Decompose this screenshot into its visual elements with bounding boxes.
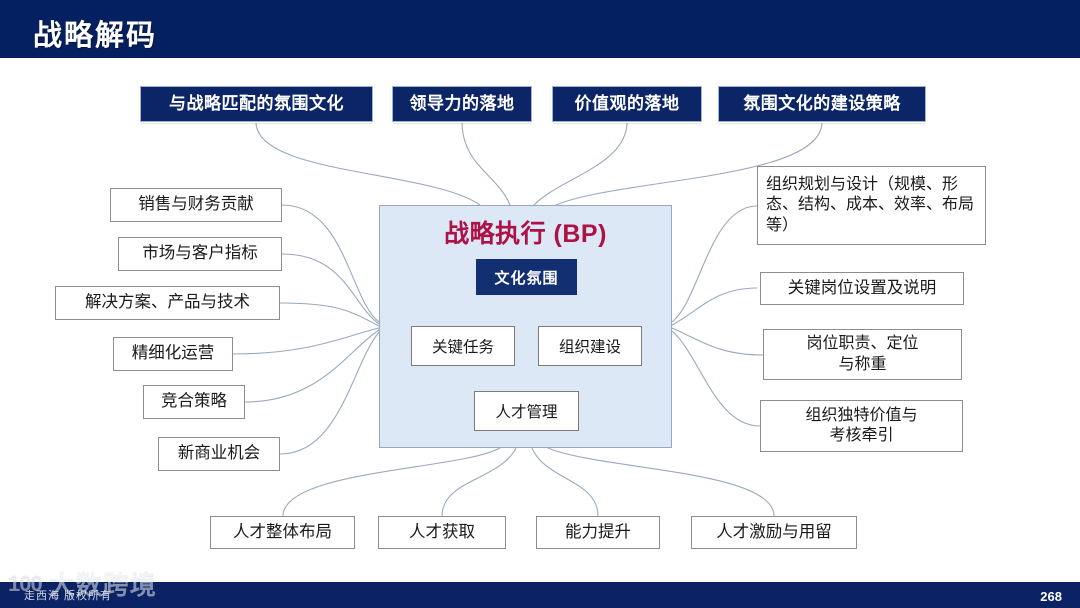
core-node-org-building-label: 组织建设 (559, 335, 621, 357)
right-box-4[interactable]: 组织独特价值与 考核牵引 (760, 400, 963, 452)
bottom-box-1[interactable]: 人才整体布局 (210, 516, 355, 549)
right-box-1[interactable]: 组织规划与设计（规模、形态、结构、成本、效率、布局等） (757, 166, 986, 245)
left-box-2[interactable]: 市场与客户指标 (118, 237, 282, 271)
left-box-2-label: 市场与客户指标 (142, 243, 258, 264)
bottom-box-1-label: 人才整体布局 (233, 522, 332, 543)
core-node-culture-label: 文化氛围 (494, 267, 558, 288)
left-box-6-label: 新商业机会 (178, 443, 261, 464)
right-box-2[interactable]: 关键岗位设置及说明 (760, 272, 964, 305)
left-box-3-label: 解决方案、产品与技术 (85, 292, 250, 313)
page-number: 268 (1040, 589, 1062, 604)
bottom-box-2[interactable]: 人才获取 (378, 516, 506, 549)
top-box-3-label: 价值观的落地 (575, 94, 680, 114)
top-box-2[interactable]: 领导力的落地 (392, 86, 532, 122)
core-node-talent-mgmt[interactable]: 人才管理 (474, 391, 579, 431)
right-box-4-label: 组织独特价值与 考核牵引 (805, 406, 917, 447)
bottom-box-4[interactable]: 人才激励与用留 (691, 516, 857, 549)
top-box-1[interactable]: 与战略匹配的氛围文化 (140, 86, 373, 122)
top-box-4-label: 氛围文化的建设策略 (743, 94, 901, 114)
left-box-5-label: 竞合策略 (161, 391, 227, 412)
right-box-2-label: 关键岗位设置及说明 (788, 278, 937, 299)
core-node-culture[interactable]: 文化氛围 (476, 259, 577, 295)
right-box-3-label: 岗位职责、定位 与称重 (806, 334, 918, 375)
slide-canvas: 战略解码 (0, 0, 1080, 608)
left-box-3[interactable]: 解决方案、产品与技术 (55, 286, 280, 320)
left-box-1-label: 销售与财务贡献 (138, 194, 254, 215)
top-box-4[interactable]: 氛围文化的建设策略 (718, 86, 926, 122)
page-title: 战略解码 (33, 12, 157, 54)
right-box-3[interactable]: 岗位职责、定位 与称重 (763, 329, 962, 380)
left-box-6[interactable]: 新商业机会 (158, 437, 280, 471)
footer-copyright: 走西海 版权所有 (24, 587, 112, 603)
center-panel-title: 战略执行 (BP) (380, 214, 671, 250)
core-node-org-building[interactable]: 组织建设 (538, 326, 642, 366)
bottom-box-4-label: 人才激励与用留 (716, 522, 832, 543)
left-box-1[interactable]: 销售与财务贡献 (110, 188, 282, 222)
right-box-1-label: 组织规划与设计（规模、形态、结构、成本、效率、布局等） (766, 175, 979, 236)
core-node-talent-mgmt-label: 人才管理 (495, 400, 557, 422)
core-node-key-tasks[interactable]: 关键任务 (411, 326, 515, 366)
left-box-4-label: 精细化运营 (132, 343, 215, 364)
bottom-box-3-label: 能力提升 (565, 522, 631, 543)
core-node-key-tasks-label: 关键任务 (432, 335, 494, 357)
footer-bar (0, 582, 1080, 608)
bottom-box-3[interactable]: 能力提升 (536, 516, 660, 549)
center-panel: 战略执行 (BP) 文化氛围 关键任务 组织建设 人才管理 (379, 205, 672, 448)
header-bar (0, 0, 1080, 58)
top-box-2-label: 领导力的落地 (410, 94, 515, 114)
left-box-5[interactable]: 竞合策略 (143, 385, 245, 419)
top-box-1-label: 与战略匹配的氛围文化 (169, 94, 344, 114)
left-box-4[interactable]: 精细化运营 (113, 337, 233, 371)
top-box-3[interactable]: 价值观的落地 (552, 86, 702, 122)
bottom-box-2-label: 人才获取 (409, 522, 475, 543)
